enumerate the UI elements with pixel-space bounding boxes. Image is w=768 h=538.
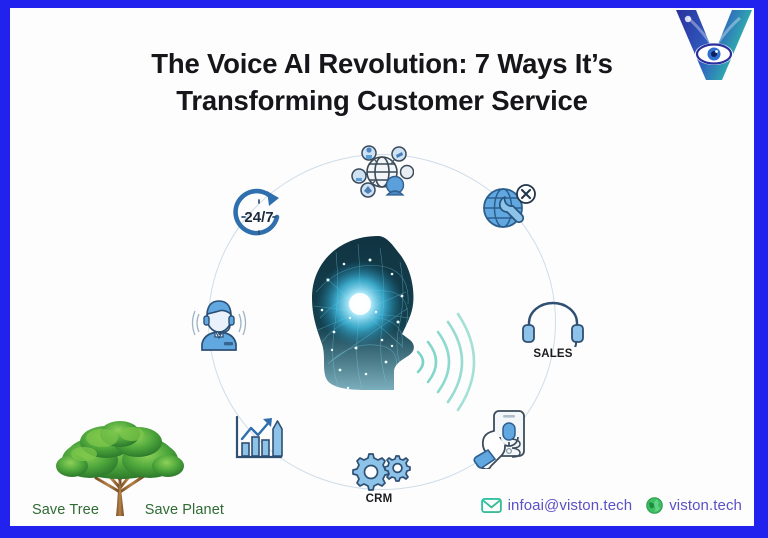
viston-v-eye-logo: [666, 2, 762, 88]
diagram-node-global-support[interactable]: [470, 172, 544, 246]
contact-email[interactable]: infoai@viston.tech: [481, 497, 633, 514]
page-title: The Voice AI Revolution: 7 Ways It’s Tra…: [70, 46, 694, 119]
poster-card: The Voice AI Revolution: 7 Ways It’s Tra…: [10, 8, 754, 526]
clock-arrow-icon: 24/7: [229, 187, 289, 243]
diagram-node-sales[interactable]: SALES: [516, 292, 590, 366]
diagram-node-availability[interactable]: 24/7: [222, 178, 296, 252]
diagram-node-growth[interactable]: [222, 402, 296, 476]
contact-footer: infoai@viston.tech viston.tech: [481, 497, 742, 514]
save-tree-logo: Save Tree Save Planet: [32, 418, 224, 524]
support-agent-headset-icon: [190, 298, 248, 352]
diagram-node-voice-assistant[interactable]: [466, 402, 540, 476]
contact-email-text: infoai@viston.tech: [508, 497, 633, 514]
poster-root: The Voice AI Revolution: 7 Ways It’s Tra…: [0, 0, 768, 538]
global-network-people-icon: [350, 142, 414, 200]
page-title-line-2: Transforming Customer Service: [70, 83, 694, 120]
diagram-node-network[interactable]: [345, 134, 419, 208]
contact-website-text: viston.tech: [669, 497, 742, 514]
headset-icon: [519, 299, 587, 347]
diagram-node-crm[interactable]: CRM: [342, 440, 416, 514]
availability-text: 24/7: [244, 209, 273, 226]
bar-chart-growth-arrow-icon: [229, 413, 289, 465]
ai-brain-head-voice-waves: [282, 222, 492, 412]
globe-wrench-support-icon: [476, 180, 538, 238]
diagram-node-label-sales: SALES: [533, 348, 572, 360]
diagram-node-label-crm: CRM: [366, 493, 393, 505]
hand-phone-microphone-icon: [472, 409, 534, 469]
diagram-node-agent[interactable]: [182, 288, 256, 362]
envelope-icon: [481, 498, 502, 513]
save-tree-text: Save Tree: [32, 502, 99, 518]
gears-icon: [346, 450, 412, 492]
contact-website[interactable]: viston.tech: [646, 497, 742, 514]
save-tree-caption: Save Tree Save Planet: [32, 502, 224, 518]
globe-icon: [646, 497, 663, 514]
page-title-line-1: The Voice AI Revolution: 7 Ways It’s: [151, 48, 612, 79]
save-planet-text: Save Planet: [145, 502, 224, 518]
capabilities-diagram: SALES: [186, 140, 578, 500]
